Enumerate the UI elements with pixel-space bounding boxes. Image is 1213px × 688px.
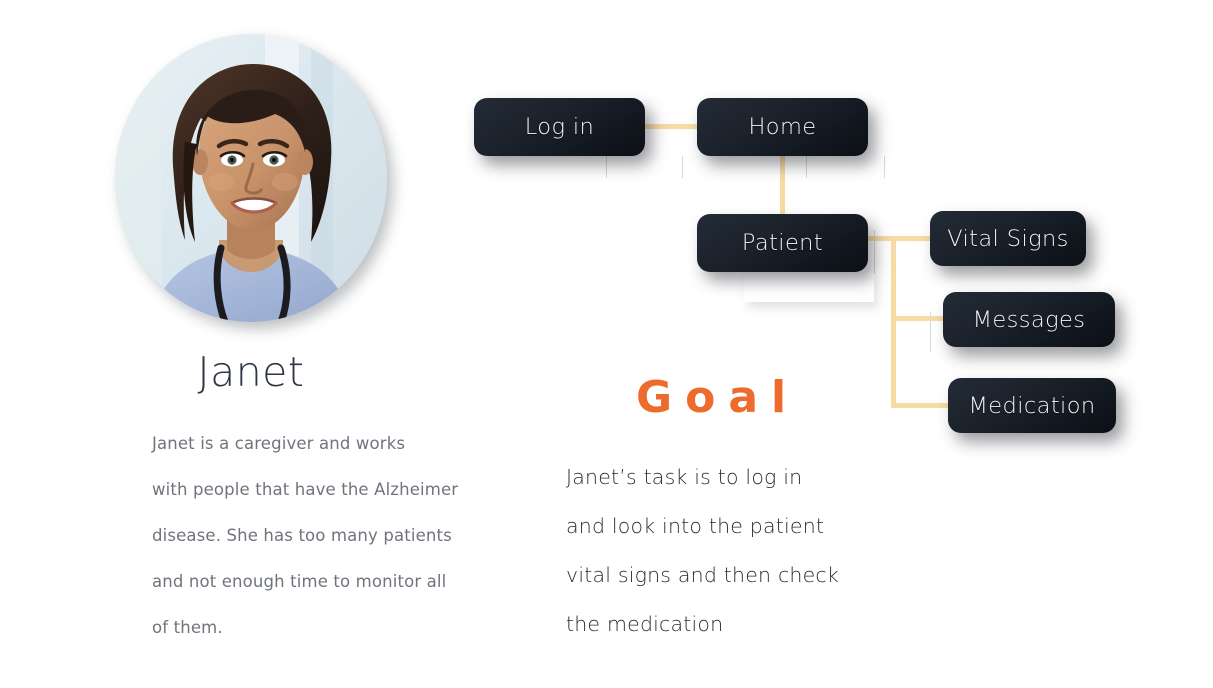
shadow-tick: [682, 156, 683, 178]
persona-bio-line: disease. She has too many patients: [152, 513, 482, 559]
flow-node-home-label: Home: [748, 114, 816, 140]
goal-description-line: vital signs and then check: [566, 551, 946, 600]
goal-description-line: Janet’s task is to log in: [566, 453, 946, 502]
slide-canvas: Janet Janet is a caregiver and works wit…: [0, 0, 1213, 688]
flow-diagram: Log in Home Patient Vital Signs Messages…: [0, 0, 1213, 460]
flow-node-login[interactable]: Log in: [474, 98, 645, 156]
persona-bio-line: and not enough time to monitor all: [152, 559, 482, 605]
persona-bio-line: with people that have the Alzheimer: [152, 467, 482, 513]
edge-home-patient: [780, 154, 785, 216]
goal-description-line: and look into the patient: [566, 502, 946, 551]
flow-node-medication[interactable]: Medication: [948, 378, 1116, 433]
flow-node-patient[interactable]: Patient: [697, 214, 868, 272]
edge-patient-medication: [891, 403, 953, 408]
shadow-tick: [884, 156, 885, 178]
flow-node-patient-label: Patient: [742, 230, 823, 256]
flow-node-login-label: Log in: [525, 114, 594, 140]
flow-node-medication-label: Medication: [968, 393, 1095, 419]
goal-description: Janet’s task is to log in and look into …: [566, 453, 946, 649]
edge-patient-messages: [891, 316, 949, 321]
shadow-plate: [744, 272, 874, 302]
flow-node-messages[interactable]: Messages: [943, 292, 1115, 347]
goal-description-line: the medication: [566, 600, 946, 649]
flow-node-vital-signs[interactable]: Vital Signs: [930, 211, 1086, 266]
flow-node-messages-label: Messages: [973, 307, 1086, 333]
edge-login-home: [644, 124, 700, 129]
persona-bio-line: of them.: [152, 605, 482, 651]
goal-heading: Goal: [636, 376, 799, 420]
shadow-tick: [606, 156, 607, 178]
edge-patient-vital: [866, 236, 930, 241]
flow-node-home[interactable]: Home: [697, 98, 868, 156]
flow-node-vital-signs-label: Vital Signs: [947, 226, 1069, 252]
shadow-tick: [806, 156, 807, 178]
edge-patient-trunk: [891, 236, 896, 408]
